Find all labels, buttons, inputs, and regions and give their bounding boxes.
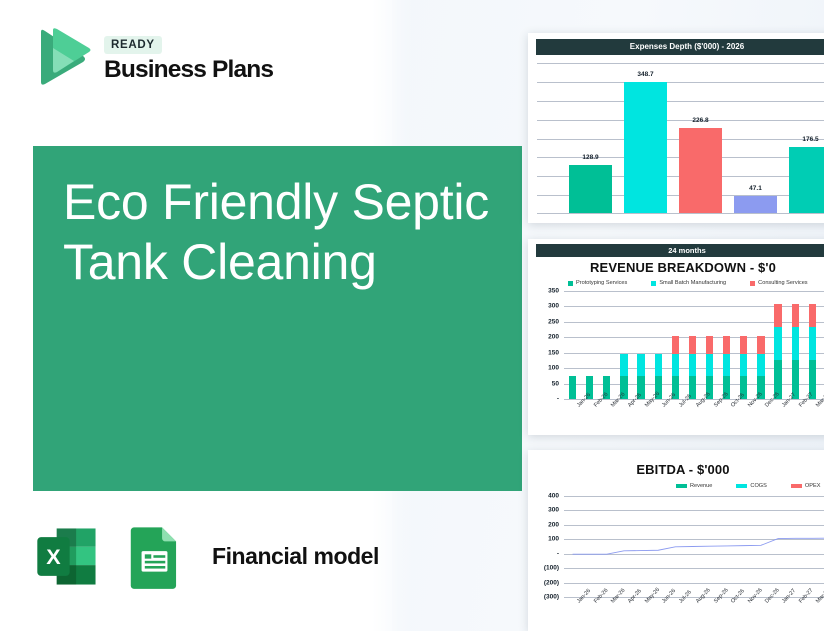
bar-segment xyxy=(569,376,576,399)
footer-label: Financial model xyxy=(212,543,379,570)
x-tick: Feb-27 xyxy=(787,595,804,627)
bar: 226.8 xyxy=(679,128,722,214)
stacked-bar-column xyxy=(598,291,615,399)
expenses-bars: 128.9348.7226.847.1176.5 xyxy=(563,63,824,214)
revenue-x-axis-labels: Jan-26Feb-26Mar-26Apr-26May-26Jun-26Jul-… xyxy=(564,399,824,431)
stacked-bar-column xyxy=(735,291,752,399)
stacked-bar-column xyxy=(701,291,718,399)
x-tick: Mar-27 xyxy=(804,399,821,431)
excel-file-icon: X xyxy=(33,522,102,591)
x-tick: Mar-26 xyxy=(598,595,615,627)
expenses-band-title: Expenses Depth ($'000) - 2026 xyxy=(536,39,824,55)
bar-column: 128.9 xyxy=(563,63,618,214)
y-tick-label: - xyxy=(557,550,559,557)
y-tick-label: 300 xyxy=(548,507,559,514)
legend-item: COGS xyxy=(736,483,766,489)
legend-swatch xyxy=(568,281,573,286)
x-tick: Sep-26 xyxy=(701,399,718,431)
x-tick: Feb-27 xyxy=(787,399,804,431)
bar: 47.1 xyxy=(734,196,777,214)
ebitda-y-axis: 400300200100-(100)(200)(300) xyxy=(536,496,562,597)
bar-segment xyxy=(706,354,713,376)
y-tick-label: 250 xyxy=(548,318,559,325)
y-tick-label: 150 xyxy=(548,349,559,356)
y-tick-label: 100 xyxy=(548,536,559,543)
ebitda-card[interactable]: EBITDA - $'000 RevenueCOGSOPEX0 40030020… xyxy=(528,450,824,631)
x-tick: Feb-26 xyxy=(581,399,598,431)
x-tick: Apr-26 xyxy=(615,595,632,627)
stacked-bar-column xyxy=(804,291,821,399)
x-tick: Nov-26 xyxy=(735,595,752,627)
revenue-breakdown-card[interactable]: 24 months REVENUE BREAKDOWN - $'0 Protot… xyxy=(528,239,824,435)
x-tick: Jul-26 xyxy=(667,399,684,431)
x-tick: Oct-26 xyxy=(718,595,735,627)
x-tick: Sep-26 xyxy=(701,595,718,627)
legend-label: Prototyping Services xyxy=(576,280,627,286)
y-tick-label: 50 xyxy=(552,380,559,387)
legend-swatch xyxy=(750,281,755,286)
stacked-bar-column xyxy=(650,291,667,399)
bar-value-label: 128.9 xyxy=(569,154,612,161)
legend-item: Prototyping Services xyxy=(568,280,627,286)
expenses-axis-baseline xyxy=(537,213,824,214)
stacked-bar-column xyxy=(787,291,804,399)
revenue-stacked-bars xyxy=(564,291,824,399)
x-tick: Jul-26 xyxy=(667,595,684,627)
x-tick: Jun-26 xyxy=(650,595,667,627)
bar: 128.9 xyxy=(569,165,612,214)
legend-swatch xyxy=(791,484,802,488)
legend-item: Revenue xyxy=(676,483,712,489)
expenses-plot: 128.9348.7226.847.1176.5 xyxy=(537,63,824,214)
bar-segment xyxy=(809,327,816,359)
bar-segment xyxy=(620,354,627,376)
play-triangle-logo-icon xyxy=(33,26,91,88)
x-tick: Aug-26 xyxy=(684,399,701,431)
bar-segment xyxy=(792,304,799,327)
google-sheets-icon xyxy=(120,522,189,591)
bar-segment xyxy=(689,354,696,376)
x-tick: Oct-26 xyxy=(718,399,735,431)
x-tick: Jun-26 xyxy=(650,399,667,431)
revenue-y-axis: 35030025020015010050- xyxy=(536,291,562,399)
y-tick-label: (100) xyxy=(544,565,559,572)
stacked-bar-column xyxy=(667,291,684,399)
legend-swatch xyxy=(676,484,687,488)
bar-segment xyxy=(757,336,764,354)
bar-value-label: 47.1 xyxy=(734,185,777,192)
bar-column: 348.7 xyxy=(618,63,673,214)
x-tick: May-26 xyxy=(633,595,650,627)
ebitda-plot-area xyxy=(564,496,824,597)
bar-value-label: 348.7 xyxy=(624,71,667,78)
poster-canvas: READY Business Plans Eco Friendly Septic… xyxy=(0,0,824,631)
stacked-bar-column xyxy=(752,291,769,399)
bar-segment xyxy=(774,304,781,327)
bar-segment xyxy=(689,336,696,354)
y-tick-label: 300 xyxy=(548,303,559,310)
y-tick-label: (200) xyxy=(544,579,559,586)
revenue-plot-area xyxy=(564,291,824,399)
legend-item: OPEX xyxy=(791,483,821,489)
x-tick: Jan-26 xyxy=(564,399,581,431)
x-tick: Jan-26 xyxy=(564,595,581,627)
bar-segment xyxy=(740,354,747,376)
x-tick: Aug-26 xyxy=(684,595,701,627)
brand-title: Business Plans xyxy=(104,58,273,83)
legend-label: Small Batch Manufacturing xyxy=(659,280,726,286)
bar-column: 47.1 xyxy=(728,63,783,214)
stacked-bar-column xyxy=(581,291,598,399)
ebitda-legend: RevenueCOGSOPEX0 xyxy=(676,483,824,489)
ebitda-line xyxy=(573,538,824,554)
svg-text:X: X xyxy=(46,544,61,569)
ebitda-x-axis-labels: Jan-26Feb-26Mar-26Apr-26May-26Jun-26Jul-… xyxy=(564,595,824,627)
bar-segment xyxy=(774,327,781,359)
bar-segment xyxy=(637,354,644,376)
ebitda-plot: 400300200100-(100)(200)(300) xyxy=(536,496,824,597)
legend-item: Small Batch Manufacturing xyxy=(651,280,726,286)
y-tick-label: - xyxy=(557,396,559,403)
page-title: Eco Friendly Septic Tank Cleaning xyxy=(63,172,493,292)
y-tick-label: 200 xyxy=(548,334,559,341)
y-tick-label: 200 xyxy=(548,521,559,528)
bar-value-label: 176.5 xyxy=(789,136,824,143)
stacked-bar-column xyxy=(770,291,787,399)
x-tick: Mar-26 xyxy=(598,399,615,431)
bar-value-label: 226.8 xyxy=(679,117,722,124)
x-tick: Dec-26 xyxy=(752,399,769,431)
stacked-bar-column xyxy=(684,291,701,399)
bar-segment xyxy=(723,354,730,376)
y-tick-label: 400 xyxy=(548,493,559,500)
stacked-bar-column xyxy=(633,291,650,399)
bar-segment xyxy=(672,354,679,376)
ebitda-chart-heading: EBITDA - $'000 xyxy=(528,462,824,477)
bar-segment xyxy=(655,354,662,376)
hero-panel: Eco Friendly Septic Tank Cleaning xyxy=(33,146,522,491)
revenue-legend: Prototyping ServicesSmall Batch Manufact… xyxy=(568,280,824,286)
stacked-bar-column xyxy=(615,291,632,399)
bar: 176.5 xyxy=(789,147,824,214)
bar-segment xyxy=(723,336,730,354)
brand-text-block: READY Business Plans xyxy=(104,32,273,83)
bar-segment xyxy=(706,336,713,354)
legend-swatch xyxy=(736,484,747,488)
y-tick-label: (300) xyxy=(544,594,559,601)
stacked-bar-column xyxy=(564,291,581,399)
bar-segment xyxy=(672,336,679,354)
legend-label: Consulting Services xyxy=(758,280,807,286)
x-tick: Jan-27 xyxy=(770,595,787,627)
x-tick: May-26 xyxy=(633,399,650,431)
revenue-band-title: 24 months xyxy=(536,244,824,257)
legend-item: Consulting Services xyxy=(750,280,807,286)
bar-column: 226.8 xyxy=(673,63,728,214)
bar-segment xyxy=(757,354,764,376)
x-tick: Feb-26 xyxy=(581,595,598,627)
legend-label: OPEX xyxy=(805,483,821,489)
ebitda-zero-line xyxy=(564,496,824,597)
revenue-plot: 35030025020015010050- xyxy=(536,291,824,399)
legend-label: Revenue xyxy=(690,483,712,489)
bar-segment xyxy=(809,304,816,327)
x-tick: Mar-27 xyxy=(804,595,821,627)
legend-label: COGS xyxy=(750,483,766,489)
y-tick-label: 100 xyxy=(548,365,559,372)
footer-row: X Financial model xyxy=(33,522,379,591)
ready-badge: READY xyxy=(104,36,162,54)
expenses-depth-card[interactable]: Expenses Depth ($'000) - 2026 128.9348.7… xyxy=(528,33,824,223)
brand-lockup: READY Business Plans xyxy=(33,26,273,88)
bar-segment xyxy=(740,336,747,354)
stacked-bar-column xyxy=(718,291,735,399)
x-tick: Apr-26 xyxy=(615,399,632,431)
revenue-chart-heading: REVENUE BREAKDOWN - $'0 xyxy=(528,260,824,275)
bar-segment xyxy=(792,327,799,359)
x-tick: Dec-26 xyxy=(752,595,769,627)
legend-swatch xyxy=(651,281,656,286)
x-tick: Nov-26 xyxy=(735,399,752,431)
y-tick-label: 350 xyxy=(548,288,559,295)
x-tick: Jan-27 xyxy=(770,399,787,431)
bar-column: 176.5 xyxy=(783,63,824,214)
bar: 348.7 xyxy=(624,82,667,214)
